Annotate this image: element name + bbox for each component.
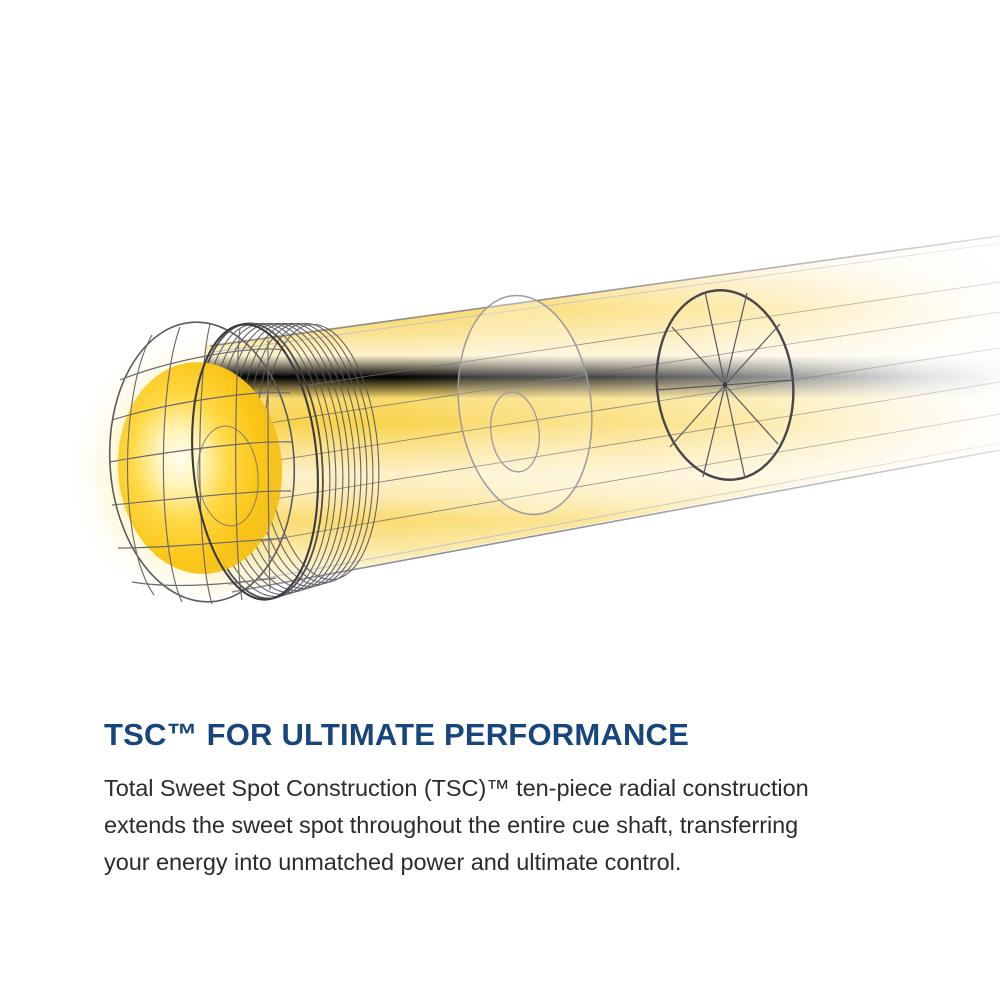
feature-text-block: TSC™ FOR ULTIMATE PERFORMANCE Total Swee…	[104, 716, 904, 881]
description-line-3: your energy into unmatched power and ult…	[104, 844, 904, 881]
page-title: TSC™ FOR ULTIMATE PERFORMANCE	[104, 716, 904, 754]
description-line-2: extends the sweet spot throughout the en…	[104, 807, 904, 844]
feature-description: Total Sweet Spot Construction (TSC)™ ten…	[104, 754, 904, 881]
description-line-1: Total Sweet Spot Construction (TSC)™ ten…	[104, 770, 904, 807]
product-feature-card: TSC™ FOR ULTIMATE PERFORMANCE Total Swee…	[0, 0, 1000, 1000]
cue-shaft-cutaway-illustration	[0, 0, 1000, 690]
